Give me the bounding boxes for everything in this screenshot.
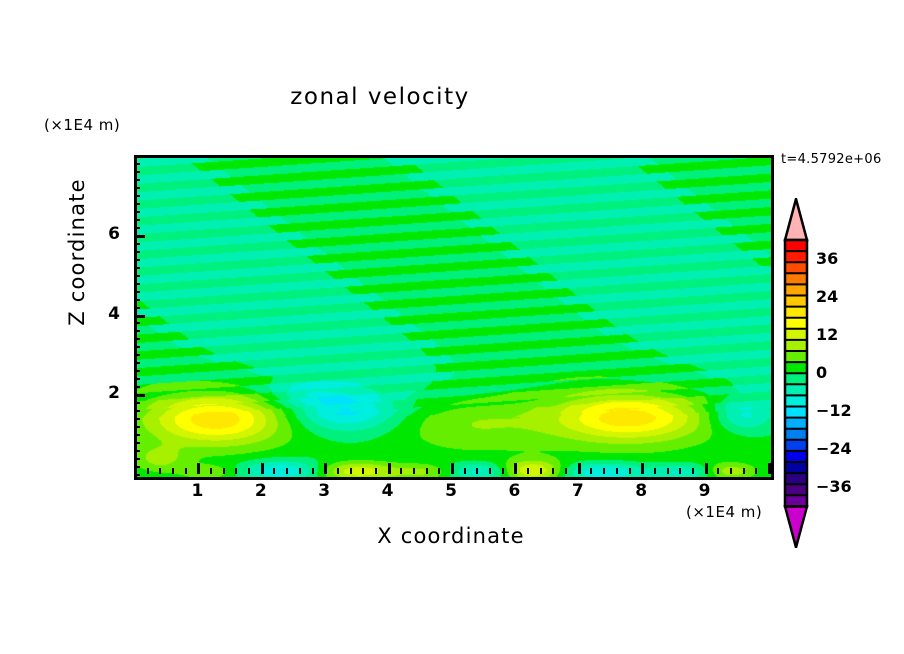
colorbar-scale xyxy=(781,198,811,548)
x-axis-title: X coordinate xyxy=(134,524,768,548)
x-major-tick xyxy=(324,463,327,474)
colorbar-band xyxy=(785,284,807,296)
colorbar-tick-label: 24 xyxy=(816,287,838,306)
z-minor-tick xyxy=(134,458,140,460)
colorbar: 3624120−12−24−36 xyxy=(781,198,811,552)
colorbar-under-arrow xyxy=(785,506,807,547)
page-title: zonal velocity xyxy=(0,84,760,110)
colorbar-band xyxy=(785,395,807,407)
x-minor-tick xyxy=(210,468,212,474)
z-minor-tick xyxy=(134,203,140,205)
x-minor-tick xyxy=(413,468,415,474)
x-tick-label: 5 xyxy=(431,481,471,501)
colorbar-band xyxy=(785,351,807,363)
colorbar-band xyxy=(785,407,807,419)
z-minor-tick xyxy=(134,163,140,165)
y-axis-title: Z coordinate xyxy=(65,152,89,352)
x-tick-label: 8 xyxy=(621,481,661,501)
x-minor-tick xyxy=(730,468,732,474)
z-minor-tick xyxy=(134,322,140,324)
x-minor-tick xyxy=(185,468,187,474)
x-major-tick xyxy=(197,463,200,474)
x-minor-tick xyxy=(629,468,631,474)
colorbar-band xyxy=(785,462,807,474)
z-minor-tick xyxy=(134,187,140,189)
x-major-tick xyxy=(514,463,517,474)
z-minor-tick xyxy=(134,338,140,340)
colorbar-band xyxy=(785,362,807,374)
figure-canvas: zonal velocity (×1E4 m) (×1E4 m) t=4.579… xyxy=(0,0,904,654)
z-tick-label: 4 xyxy=(86,304,120,324)
colorbar-tick-label: −36 xyxy=(816,477,852,496)
x-minor-tick xyxy=(667,468,669,474)
colorbar-band xyxy=(785,429,807,441)
x-minor-tick xyxy=(312,468,314,474)
colorbar-tick-label: −12 xyxy=(816,401,852,420)
x-minor-tick xyxy=(616,468,618,474)
z-minor-tick xyxy=(134,450,140,452)
x-minor-tick xyxy=(159,468,161,474)
z-minor-tick xyxy=(134,346,140,348)
x-minor-tick xyxy=(565,468,567,474)
z-minor-tick xyxy=(134,434,140,436)
x-minor-tick xyxy=(426,468,428,474)
z-minor-tick xyxy=(134,219,140,221)
x-minor-tick xyxy=(590,468,592,474)
colorbar-tick-label: 12 xyxy=(816,325,838,344)
x-major-tick xyxy=(641,463,644,474)
timestamp-annotation: t=4.5792e+06 xyxy=(781,152,882,167)
colorbar-band xyxy=(785,273,807,285)
x-tick-label: 1 xyxy=(177,481,217,501)
x-minor-tick xyxy=(502,468,504,474)
z-minor-tick xyxy=(134,179,140,181)
z-minor-tick xyxy=(134,402,140,404)
x-minor-tick xyxy=(299,468,301,474)
x-minor-tick xyxy=(679,468,681,474)
x-axis-unit-label: (×1E4 m) xyxy=(686,503,762,521)
x-minor-tick xyxy=(654,468,656,474)
x-minor-tick xyxy=(286,468,288,474)
z-minor-tick xyxy=(134,330,140,332)
colorbar-band xyxy=(785,373,807,385)
contour-field xyxy=(137,158,771,477)
x-minor-tick xyxy=(540,468,542,474)
colorbar-band xyxy=(785,384,807,396)
x-minor-tick xyxy=(755,468,757,474)
z-minor-tick xyxy=(134,243,140,245)
z-minor-tick xyxy=(134,386,140,388)
z-minor-tick xyxy=(134,354,140,356)
z-minor-tick xyxy=(134,362,140,364)
z-minor-tick xyxy=(134,442,140,444)
z-major-tick xyxy=(134,235,145,238)
x-minor-tick xyxy=(248,468,250,474)
z-minor-tick xyxy=(134,259,140,261)
colorbar-band xyxy=(785,329,807,341)
colorbar-band xyxy=(785,473,807,485)
z-minor-tick xyxy=(134,370,140,372)
z-minor-tick xyxy=(134,211,140,213)
colorbar-tick-label: 36 xyxy=(816,249,838,268)
x-major-tick xyxy=(578,463,581,474)
z-minor-tick xyxy=(134,195,140,197)
x-minor-tick xyxy=(273,468,275,474)
z-minor-tick xyxy=(134,307,140,309)
z-minor-tick xyxy=(134,426,140,428)
z-minor-tick xyxy=(134,466,140,468)
x-minor-tick xyxy=(400,468,402,474)
y-axis-unit-label: (×1E4 m) xyxy=(44,116,120,134)
colorbar-band xyxy=(785,240,807,252)
x-major-tick xyxy=(451,463,454,474)
x-minor-tick xyxy=(464,468,466,474)
z-minor-tick xyxy=(134,171,140,173)
z-minor-tick xyxy=(134,378,140,380)
colorbar-band xyxy=(785,318,807,330)
plot-area xyxy=(134,155,774,480)
colorbar-over-arrow xyxy=(785,199,807,240)
x-major-tick xyxy=(768,463,771,474)
x-minor-tick xyxy=(743,468,745,474)
x-major-tick xyxy=(388,463,391,474)
x-major-tick xyxy=(705,463,708,474)
x-minor-tick xyxy=(147,468,149,474)
colorbar-band xyxy=(785,440,807,452)
z-major-tick xyxy=(134,155,145,158)
x-tick-label: 2 xyxy=(241,481,281,501)
colorbar-band xyxy=(785,296,807,308)
z-tick-label: 6 xyxy=(86,224,120,244)
colorbar-band xyxy=(785,484,807,496)
x-minor-tick xyxy=(692,468,694,474)
z-minor-tick xyxy=(134,227,140,229)
x-minor-tick xyxy=(476,468,478,474)
x-minor-tick xyxy=(337,468,339,474)
z-major-tick xyxy=(134,394,145,397)
x-tick-label: 6 xyxy=(494,481,534,501)
x-minor-tick xyxy=(223,468,225,474)
z-tick-label: 2 xyxy=(86,383,120,403)
colorbar-band xyxy=(785,307,807,319)
x-minor-tick xyxy=(172,468,174,474)
colorbar-tick-label: 0 xyxy=(816,363,827,382)
x-major-tick xyxy=(261,463,264,474)
colorbar-band xyxy=(785,451,807,463)
x-minor-tick xyxy=(375,468,377,474)
z-minor-tick xyxy=(134,291,140,293)
x-tick-label: 9 xyxy=(685,481,725,501)
x-minor-tick xyxy=(362,468,364,474)
z-minor-tick xyxy=(134,418,140,420)
x-minor-tick xyxy=(527,468,529,474)
x-tick-label: 4 xyxy=(368,481,408,501)
x-minor-tick xyxy=(552,468,554,474)
z-minor-tick xyxy=(134,474,140,476)
x-minor-tick xyxy=(603,468,605,474)
x-tick-label: 7 xyxy=(558,481,598,501)
colorbar-band xyxy=(785,262,807,274)
x-major-tick xyxy=(134,463,137,474)
z-minor-tick xyxy=(134,283,140,285)
z-major-tick xyxy=(134,315,145,318)
x-minor-tick xyxy=(438,468,440,474)
colorbar-band xyxy=(785,418,807,430)
colorbar-band xyxy=(785,251,807,263)
z-minor-tick xyxy=(134,267,140,269)
x-minor-tick xyxy=(235,468,237,474)
z-minor-tick xyxy=(134,410,140,412)
colorbar-tick-label: −24 xyxy=(816,439,852,458)
x-minor-tick xyxy=(717,468,719,474)
x-minor-tick xyxy=(489,468,491,474)
x-tick-label: 3 xyxy=(304,481,344,501)
z-minor-tick xyxy=(134,251,140,253)
z-minor-tick xyxy=(134,299,140,301)
x-minor-tick xyxy=(350,468,352,474)
z-minor-tick xyxy=(134,275,140,277)
colorbar-band xyxy=(785,340,807,352)
